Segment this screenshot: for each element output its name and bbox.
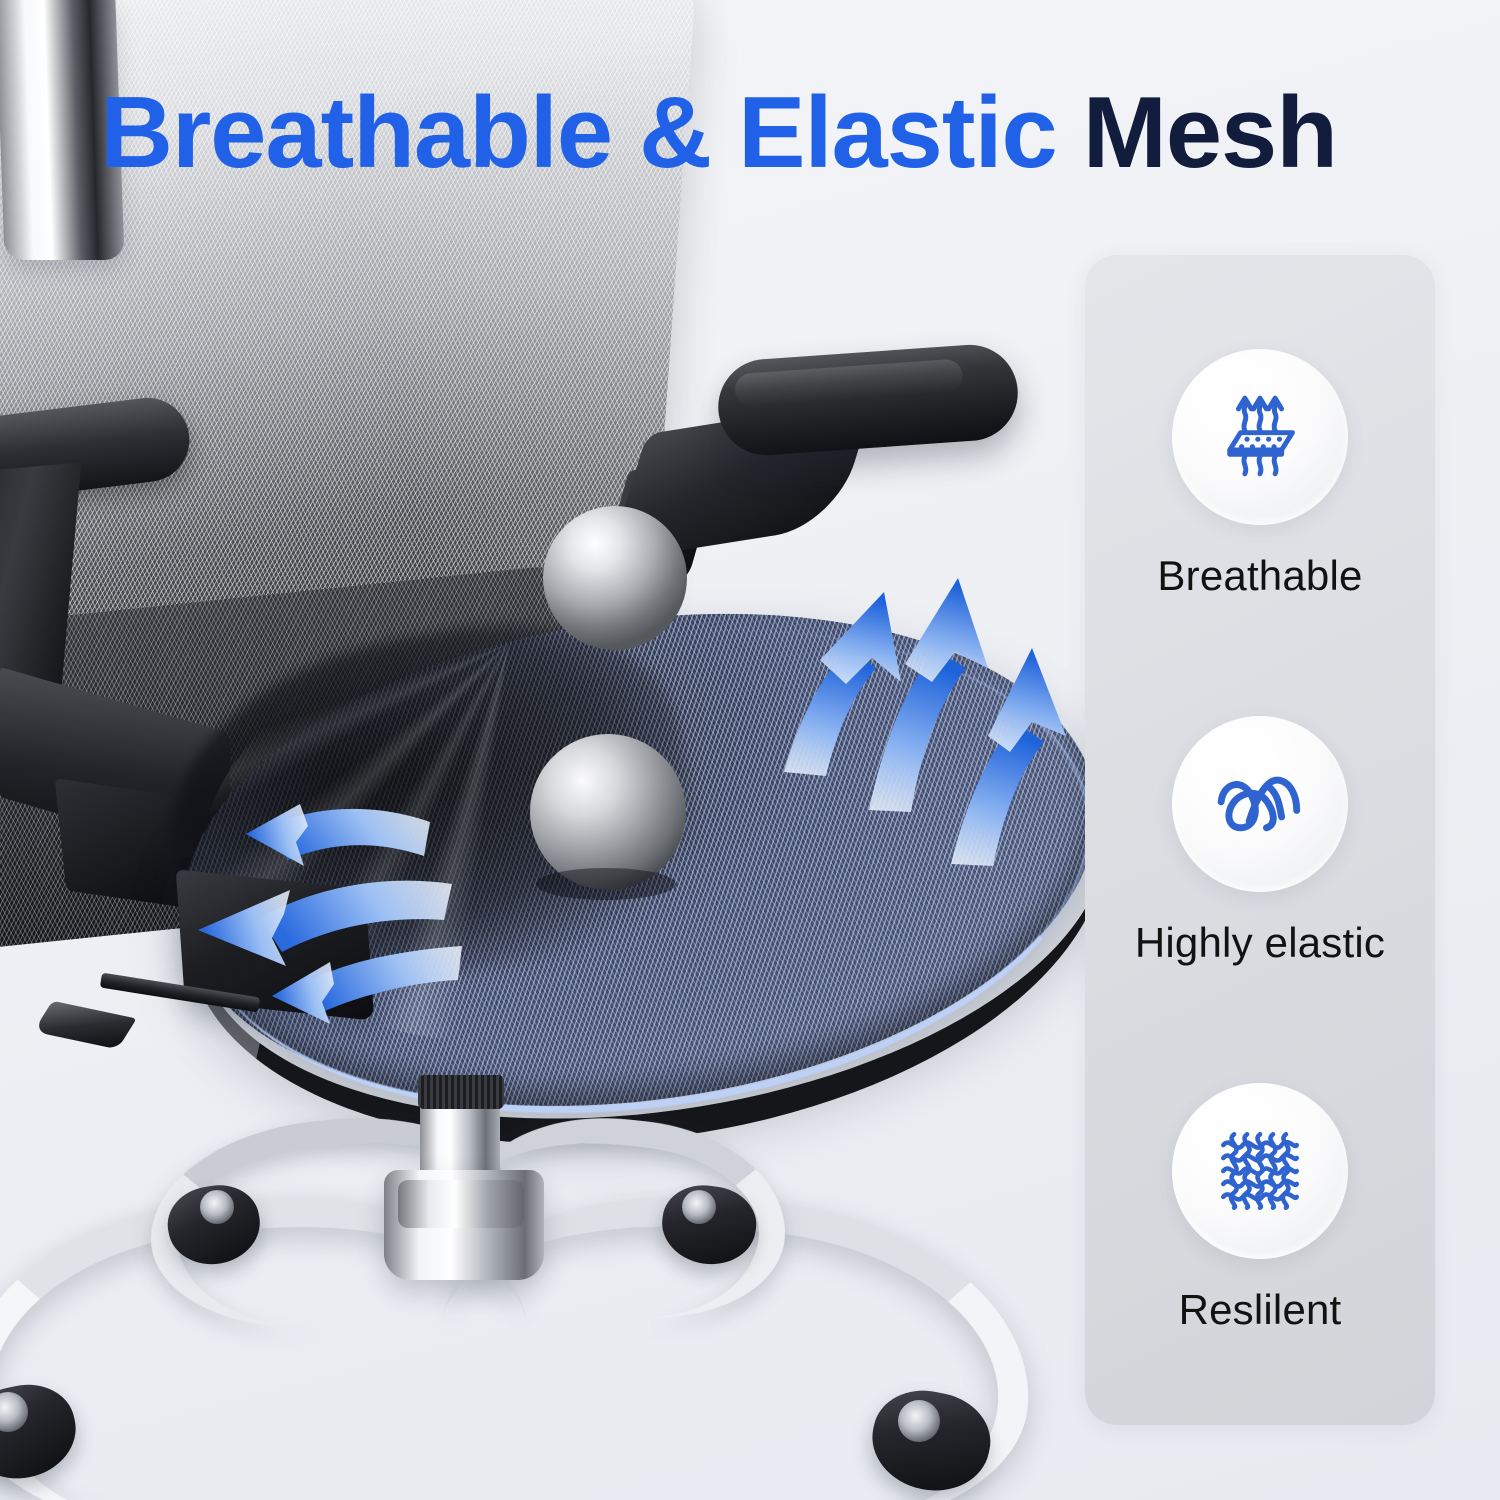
woven-fabric-weave-icon bbox=[1206, 1117, 1314, 1225]
title-primary: Breathable & Elastic bbox=[100, 83, 1057, 184]
breathable-mesh-airflow-icon bbox=[1206, 383, 1314, 491]
steel-ball-airborne bbox=[543, 506, 687, 650]
gas-cylinder-collar bbox=[398, 1180, 524, 1228]
feature-panel: Breathable Highly elastic bbox=[1085, 255, 1435, 1425]
steel-ball-resting bbox=[530, 734, 686, 890]
product-feature-image: Breathable & Elastic Mesh bbox=[0, 0, 1500, 1500]
feature-label-breathable: Breathable bbox=[1157, 555, 1362, 597]
chair-photo bbox=[0, 0, 1090, 1500]
feature-icon-badge-highly-elastic bbox=[1172, 716, 1348, 892]
feature-label-highly-elastic: Highly elastic bbox=[1135, 922, 1385, 964]
caster-hub-rear-left bbox=[200, 1190, 234, 1224]
elastic-wave-icon bbox=[1206, 750, 1314, 858]
feature-item-highly-elastic: Highly elastic bbox=[1085, 716, 1435, 964]
page-title: Breathable & Elastic Mesh bbox=[100, 78, 1430, 188]
steel-balls-group bbox=[0, 0, 1090, 1500]
caster-hub-front-right bbox=[898, 1400, 940, 1442]
feature-item-resilient: Reslilent bbox=[1085, 1083, 1435, 1331]
feature-icon-badge-breathable bbox=[1172, 349, 1348, 525]
feature-icon-badge-resilient bbox=[1172, 1083, 1348, 1259]
title-accent: Mesh bbox=[1083, 83, 1337, 184]
feature-label-resilient: Reslilent bbox=[1179, 1289, 1342, 1331]
feature-item-breathable: Breathable bbox=[1085, 349, 1435, 597]
steel-ball-contact-shadow bbox=[536, 868, 676, 900]
caster-hub-rear-right bbox=[682, 1190, 716, 1224]
gas-cylinder-boot bbox=[418, 1075, 504, 1109]
